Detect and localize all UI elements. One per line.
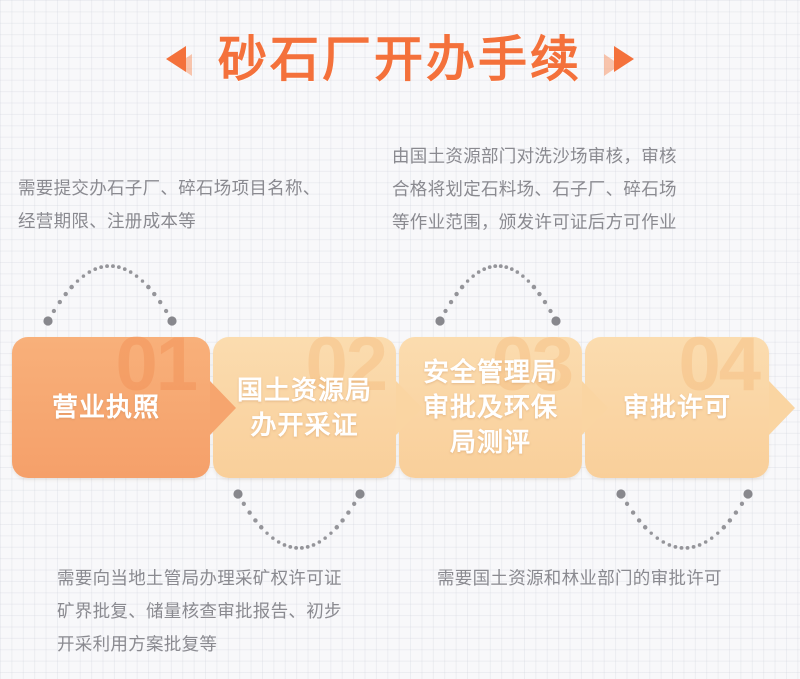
flow-step-4[interactable]: 04 审批许可 [585,337,769,478]
flow-step-2-arrow-icon [396,381,422,435]
process-flow: 01 营业执照 02 国土资源局 办开采证 03 安全管理局 审批及环保 局测评… [0,337,800,478]
arc-step3-to-note-top-right [435,264,560,325]
note-bottom-left: 需要向当地土管局办理采矿权许可证 矿界批复、储量核查审批报告、初步 开采利用方案… [57,562,407,661]
arc-step4-to-note-bottom-right [616,489,752,549]
flow-step-3[interactable]: 03 安全管理局 审批及环保 局测评 [399,337,582,478]
left-triangle-icon [164,42,198,78]
arc-step2-to-note-bottom-left [233,489,364,549]
right-triangle-icon [602,42,636,78]
page-title: 砂石厂开办手续 [0,22,800,98]
flow-step-2[interactable]: 02 国土资源局 办开采证 [213,337,396,478]
flow-step-3-arrow-icon [582,381,608,435]
arc-step1-to-note-top-left [43,264,176,325]
title-text: 砂石厂开办手续 [218,36,582,85]
flow-step-3-label: 安全管理局 审批及环保 局测评 [399,337,582,478]
flow-step-4-arrow-icon [769,381,795,435]
flow-step-1-label: 营业执照 [12,337,210,478]
note-bottom-right: 需要国土资源和林业部门的审批许可 [437,562,787,595]
flow-step-2-label: 国土资源局 办开采证 [213,337,396,478]
note-top-right: 由国土资源部门对洗沙场审核，审核 合格将划定石料场、石子厂、碎石场 等作业范围，… [392,140,787,239]
note-top-left: 需要提交办石子厂、碎石场项目名称、 经营期限、注册成本等 [18,172,378,238]
infographic-canvas: 砂石厂开办手续 需要提交办石子厂、碎石场项目名称、 经营期限、注册成本等 由国土… [0,0,800,679]
flow-step-4-label: 审批许可 [585,337,769,478]
flow-step-1[interactable]: 01 营业执照 [12,337,210,478]
flow-step-1-arrow-icon [210,381,236,435]
